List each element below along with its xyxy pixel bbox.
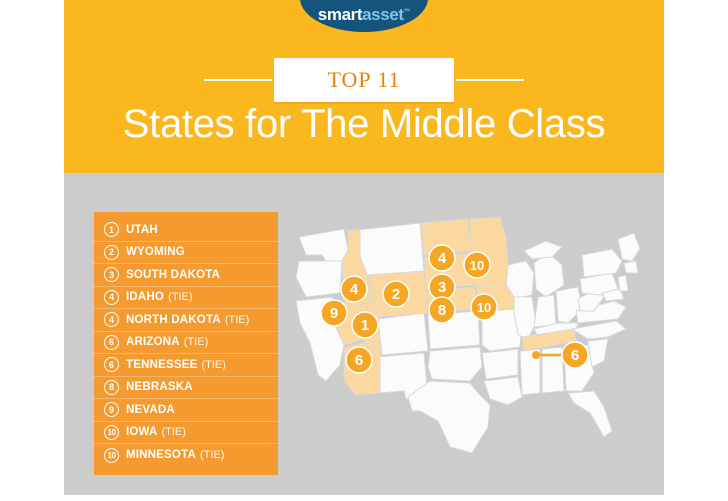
- state-name-label: NEBRASKA: [126, 381, 193, 393]
- rank-badge: 8: [104, 380, 119, 395]
- state-name-label: NORTH DAKOTA: [126, 314, 221, 326]
- marker-rank-label: 10: [470, 258, 484, 273]
- list-item[interactable]: 9NEVADA: [94, 399, 278, 422]
- map-marker[interactable]: 4: [341, 276, 367, 302]
- ranking-panel: 1UTAH2WYOMING3SOUTH DAKOTA4IDAHO(TIE)4NO…: [94, 212, 278, 475]
- page-title: States for The Middle Class: [64, 104, 664, 144]
- state-name-label: IDAHO: [126, 291, 164, 303]
- list-item[interactable]: 1UTAH: [94, 219, 278, 242]
- state-name-label: TENNESSEE: [126, 359, 197, 371]
- rank-badge: 10: [104, 448, 119, 463]
- marker-rank-label: 1: [361, 317, 369, 334]
- rank-badge: 6: [104, 357, 119, 372]
- rank-badge: 4: [104, 312, 119, 327]
- rank-badge: 4: [104, 290, 119, 305]
- tie-label: (TIE): [225, 314, 249, 326]
- marker-rank-label: 6: [355, 352, 363, 369]
- ribbon-label: TOP 11: [327, 67, 400, 93]
- header-banner: smartasset™ TOP 11 States for The Middle…: [64, 0, 664, 173]
- us-map: 4410328109166: [282, 215, 652, 465]
- leader-line-anchor-dot: [532, 351, 540, 359]
- marker-rank-label: 6: [571, 347, 579, 364]
- state-name-label: WYOMING: [126, 246, 185, 258]
- list-item[interactable]: 4NORTH DAKOTA(TIE): [94, 309, 278, 332]
- content-area: 1UTAH2WYOMING3SOUTH DAKOTA4IDAHO(TIE)4NO…: [64, 173, 664, 495]
- logo-wordmark: smartasset™: [318, 5, 410, 25]
- list-item[interactable]: 6TENNESSEE(TIE): [94, 354, 278, 377]
- map-marker[interactable]: 10: [471, 294, 497, 320]
- rank-badge: 3: [104, 267, 119, 282]
- state-name-label: NEVADA: [126, 404, 175, 416]
- state-name-label: IOWA: [126, 426, 157, 438]
- map-marker[interactable]: 8: [429, 297, 455, 323]
- infographic-canvas: smartasset™ TOP 11 States for The Middle…: [64, 0, 664, 495]
- marker-rank-label: 4: [350, 281, 359, 298]
- ribbon-rule-left: [204, 79, 272, 81]
- map-marker[interactable]: 4: [429, 245, 455, 271]
- rank-badge: 1: [104, 222, 119, 237]
- logo-asset-text: asset: [362, 5, 403, 24]
- list-item[interactable]: 8NEBRASKA: [94, 377, 278, 400]
- logo-smart-text: smart: [318, 5, 362, 24]
- list-item[interactable]: 3SOUTH DAKOTA: [94, 264, 278, 287]
- tie-label: (TIE): [168, 291, 192, 303]
- map-marker[interactable]: 3: [429, 274, 455, 300]
- list-item[interactable]: 10MINNESOTA(TIE): [94, 444, 278, 467]
- marker-rank-label: 9: [330, 305, 338, 322]
- map-marker[interactable]: 1: [352, 312, 378, 338]
- tie-label: (TIE): [200, 449, 224, 461]
- marker-rank-label: 10: [477, 300, 491, 315]
- marker-rank-label: 8: [438, 302, 446, 319]
- map-marker[interactable]: 2: [383, 281, 409, 307]
- rank-badge: 6: [104, 335, 119, 350]
- marker-rank-label: 4: [438, 250, 447, 267]
- map-marker[interactable]: 6: [346, 347, 372, 373]
- list-item[interactable]: 6ARIZONA(TIE): [94, 332, 278, 355]
- smartasset-logo[interactable]: smartasset™: [300, 0, 428, 32]
- top-ribbon: TOP 11: [64, 58, 664, 102]
- state-name-label: MINNESOTA: [126, 449, 196, 461]
- state-name-label: SOUTH DAKOTA: [126, 269, 220, 281]
- marker-rank-label: 2: [392, 286, 400, 303]
- rank-badge: 2: [104, 245, 119, 260]
- list-item[interactable]: 2WYOMING: [94, 242, 278, 265]
- map-marker[interactable]: 6: [562, 342, 588, 368]
- list-item[interactable]: 4IDAHO(TIE): [94, 287, 278, 310]
- ribbon-center-plate: TOP 11: [274, 58, 454, 102]
- map-marker[interactable]: 10: [464, 252, 490, 278]
- tie-label: (TIE): [161, 426, 185, 438]
- map-marker[interactable]: 9: [321, 300, 347, 326]
- marker-rank-label: 3: [438, 279, 446, 296]
- tie-label: (TIE): [201, 359, 225, 371]
- rank-badge: 9: [104, 402, 119, 417]
- ribbon-rule-right: [456, 79, 524, 81]
- rank-badge: 10: [104, 425, 119, 440]
- state-name-label: ARIZONA: [126, 336, 180, 348]
- trademark-icon: ™: [404, 8, 411, 15]
- list-item[interactable]: 10IOWA(TIE): [94, 422, 278, 445]
- state-name-label: UTAH: [126, 224, 158, 236]
- tie-label: (TIE): [184, 336, 208, 348]
